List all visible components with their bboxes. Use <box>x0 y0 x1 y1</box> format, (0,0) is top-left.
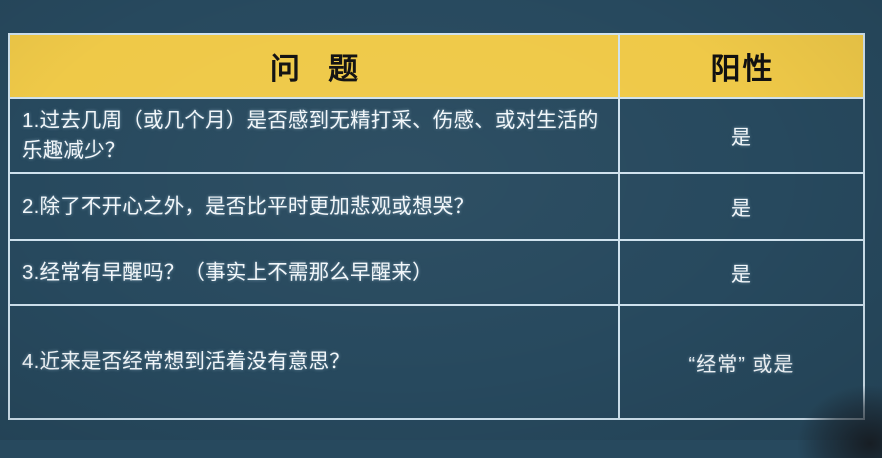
table-header-row: 问 题 阳性 <box>9 34 864 98</box>
table-row: 2.除了不开心之外，是否比平时更加悲观或想哭？ 是 <box>9 173 864 240</box>
table-row: 1.过去几周（或几个月）是否感到无精打采、伤感、或对生活的乐趣减少？ 是 <box>9 98 864 173</box>
table-row: 3.经常有早醒吗？（事实上不需那么早醒来） 是 <box>9 240 864 305</box>
table-header: 问 题 阳性 <box>9 34 864 98</box>
answer-cell-1: 是 <box>619 98 864 173</box>
screening-questions-table: 问 题 阳性 1.过去几周（或几个月）是否感到无精打采、伤感、或对生活的乐趣减少… <box>8 33 865 420</box>
column-header-answer: 阳性 <box>619 34 864 98</box>
question-cell-3: 3.经常有早醒吗？（事实上不需那么早醒来） <box>9 240 619 305</box>
question-cell-2: 2.除了不开心之外，是否比平时更加悲观或想哭？ <box>9 173 619 240</box>
question-cell-4: 4.近来是否经常想到活着没有意思？ <box>9 305 619 419</box>
question-cell-1: 1.过去几周（或几个月）是否感到无精打采、伤感、或对生活的乐趣减少？ <box>9 98 619 173</box>
table-body: 1.过去几周（或几个月）是否感到无精打采、伤感、或对生活的乐趣减少？ 是 2.除… <box>9 98 864 419</box>
answer-cell-3: 是 <box>619 240 864 305</box>
answer-cell-4: “经常” 或是 <box>619 305 864 419</box>
table-row: 4.近来是否经常想到活着没有意思？ “经常” 或是 <box>9 305 864 419</box>
slide-canvas: 问 题 阳性 1.过去几周（或几个月）是否感到无精打采、伤感、或对生活的乐趣减少… <box>0 0 882 440</box>
answer-cell-2: 是 <box>619 173 864 240</box>
column-header-question: 问 题 <box>9 34 619 98</box>
